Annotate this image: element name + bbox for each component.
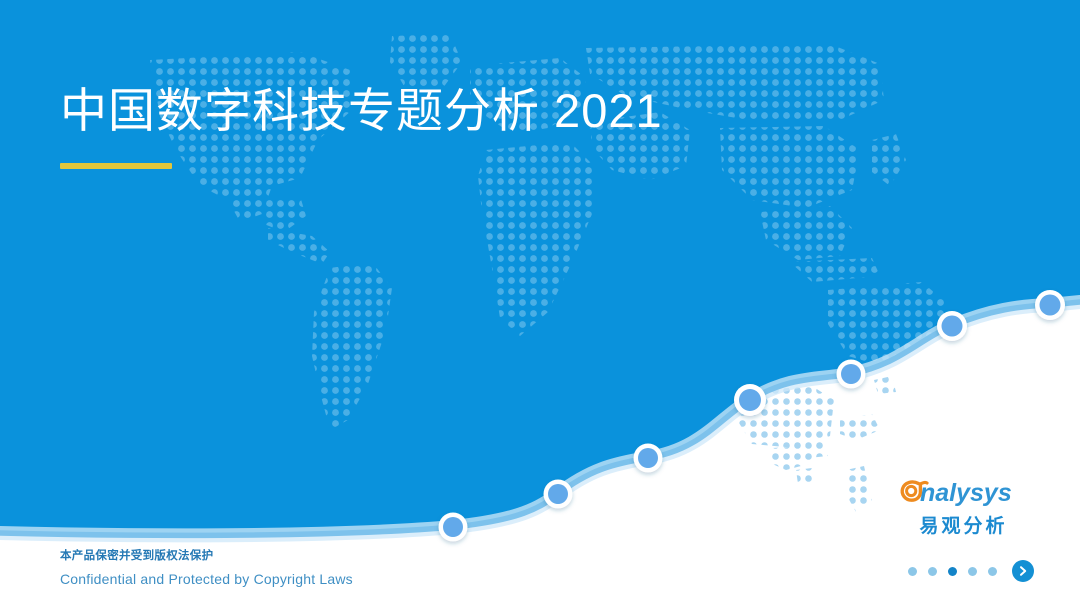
chevron-right-icon — [1017, 565, 1029, 577]
chart-marker — [634, 444, 663, 473]
chart-marker — [544, 480, 573, 509]
svg-text:nalysys: nalysys — [920, 479, 1012, 507]
title-block: 中国数字科技专题分析 2021 — [60, 82, 663, 169]
presentation-slide: 中国数字科技专题分析 2021 本产品保密并受到版权法保护 Confidenti… — [0, 0, 1080, 608]
chart-marker — [837, 360, 866, 389]
pagination-dot-2[interactable] — [928, 567, 937, 576]
copyright-cn: 本产品保密并受到版权法保护 — [60, 548, 353, 566]
chart-marker — [734, 384, 766, 416]
pagination-dot-1[interactable] — [908, 567, 917, 576]
copyright-notice: 本产品保密并受到版权法保护 Confidential and Protected… — [60, 548, 353, 591]
chart-marker — [1035, 290, 1065, 320]
copyright-en: Confidential and Protected by Copyright … — [60, 569, 353, 591]
chart-marker — [937, 311, 967, 341]
analysys-logo-cn: 易观分析 — [898, 511, 1026, 538]
page-title: 中国数字科技专题分析 2021 — [60, 82, 663, 141]
pagination-dot-4[interactable] — [968, 567, 977, 576]
title-accent-rule — [60, 163, 172, 169]
next-slide-button[interactable] — [1012, 560, 1034, 582]
analysys-logo: nalysys 易观分析 — [898, 476, 1026, 538]
analysys-wordmark-icon: nalysys — [898, 476, 1026, 510]
pagination-dot-5[interactable] — [988, 567, 997, 576]
chart-marker — [439, 513, 468, 542]
pagination-dot-3[interactable] — [948, 567, 957, 576]
slide-pagination[interactable] — [908, 560, 1034, 582]
